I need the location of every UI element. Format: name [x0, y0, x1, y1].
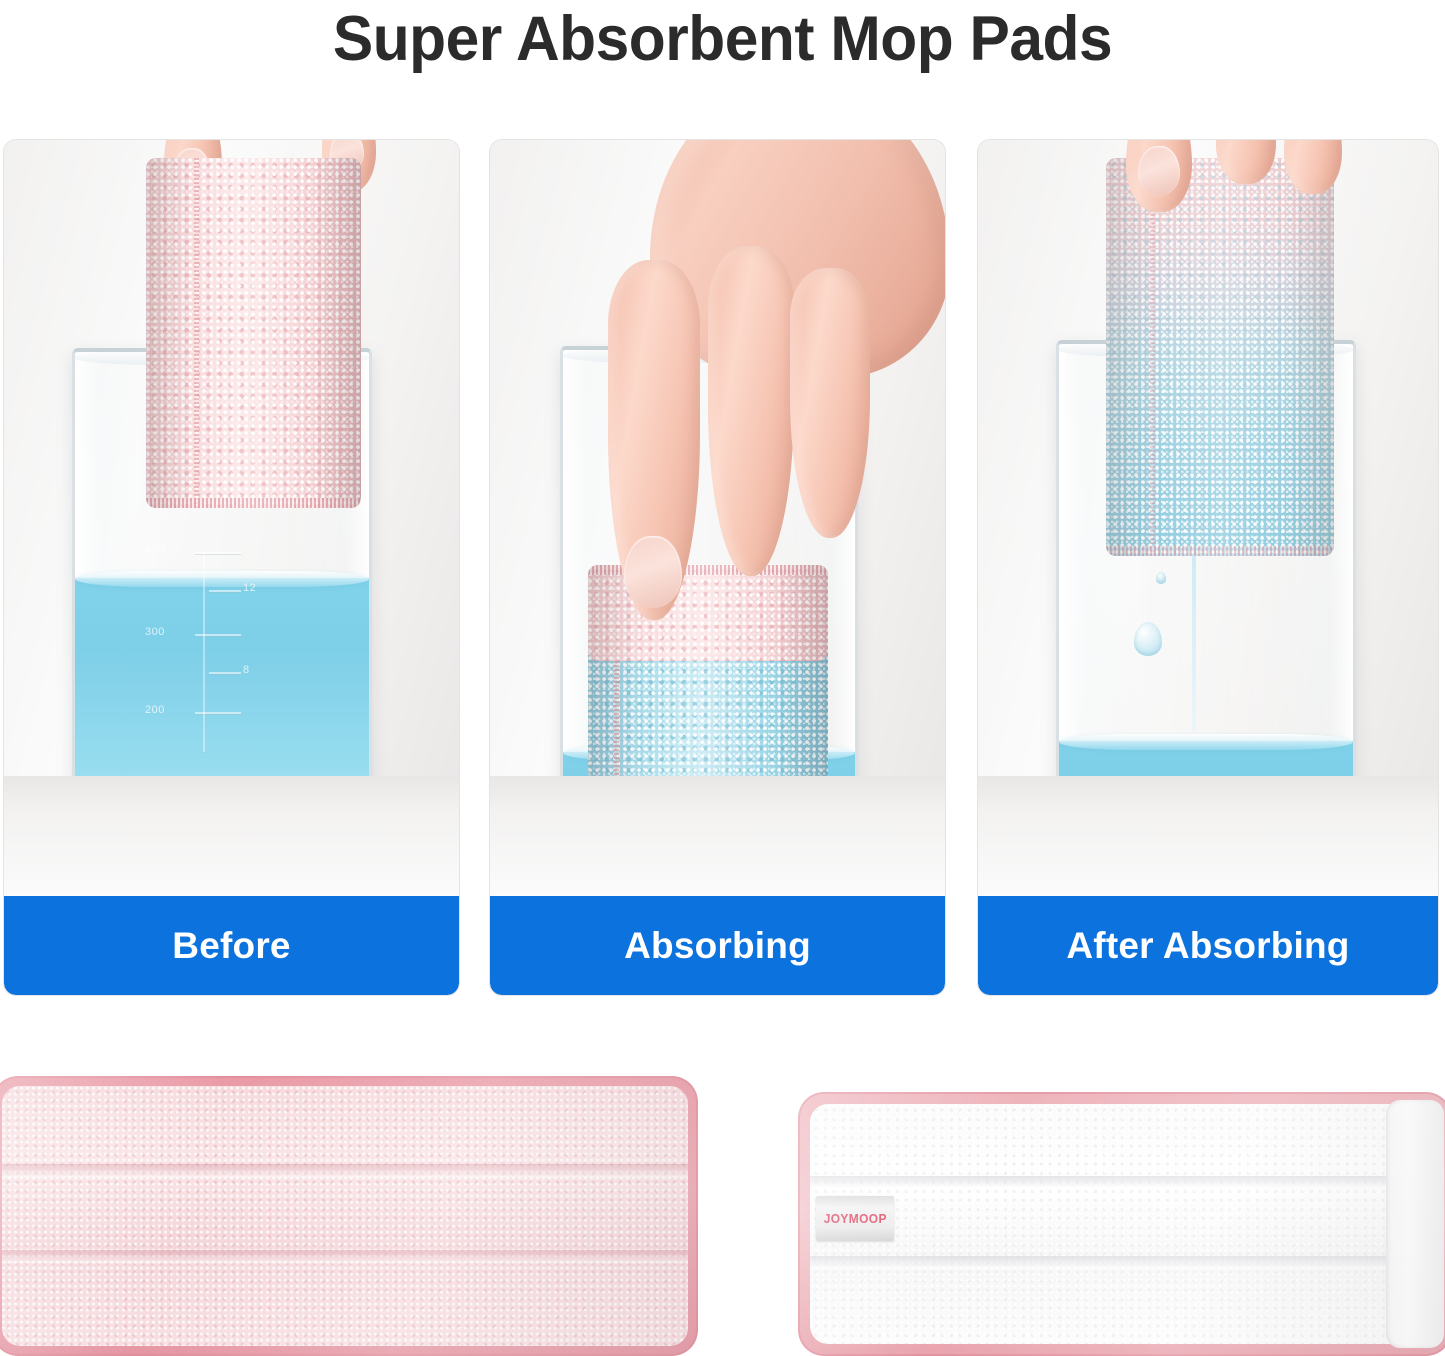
- finger-index: [608, 260, 700, 620]
- finger-middle: [708, 246, 794, 576]
- finger-ring: [790, 268, 870, 538]
- caption-label: After Absorbing: [1066, 924, 1349, 968]
- panel-absorbing: Absorbing: [490, 140, 945, 995]
- pad-hem: [588, 853, 828, 863]
- water-stream: [1192, 550, 1196, 732]
- product-pink-pad: [0, 1076, 698, 1356]
- panel-after-absorbing: 200: [978, 140, 1438, 995]
- caption-label: Before: [172, 924, 290, 968]
- pad-shading: [1106, 158, 1334, 556]
- glass-base: [1060, 837, 1352, 869]
- photo-before: 400 12 300 8 200: [4, 140, 459, 896]
- pad-channel: [2, 1250, 688, 1262]
- glass-base: [564, 838, 854, 870]
- water-surface: [75, 571, 369, 587]
- pad-face: [2, 1086, 688, 1346]
- fingernail: [624, 536, 682, 608]
- brand-name: JOYMOOP: [823, 1211, 886, 1226]
- mop-pad-roll-saturated: [1106, 158, 1334, 556]
- product-infographic: Super Absorbent Mop Pads 400 12: [0, 0, 1445, 1356]
- caption-banner-absorbing: Absorbing: [490, 896, 945, 995]
- water-droplet-small: [1156, 572, 1166, 584]
- water-surface: [1059, 734, 1353, 750]
- fingernail: [1138, 146, 1180, 196]
- pad-channel: [2, 1164, 688, 1176]
- product-pads: JOYMOOP: [0, 1062, 1445, 1356]
- panel-before: 400 12 300 8 200: [4, 140, 459, 995]
- page-title: Super Absorbent Mop Pads: [29, 2, 1416, 76]
- photo-absorbing: [490, 140, 945, 896]
- mop-pad-roll-dry: [146, 158, 361, 508]
- photo-after-absorbing: 200: [978, 140, 1438, 896]
- caption-label: Absorbing: [624, 924, 811, 968]
- pad-channel: [810, 1256, 1440, 1268]
- caption-banner-before: Before: [4, 896, 459, 995]
- pad-face: [810, 1104, 1440, 1344]
- water-body: [1059, 741, 1353, 869]
- water-droplet: [1134, 622, 1162, 656]
- brand-tag: JOYMOOP: [816, 1196, 894, 1241]
- glass-base: [76, 838, 368, 870]
- caption-banner-after-absorbing: After Absorbing: [978, 896, 1438, 995]
- water-body: [75, 578, 369, 870]
- product-white-pad: JOYMOOP: [798, 1092, 1445, 1356]
- pad-channel: [810, 1176, 1440, 1188]
- pad-shading: [146, 158, 361, 508]
- comparison-panels: 400 12 300 8 200: [0, 140, 1445, 995]
- pad-side-flap: [1386, 1100, 1444, 1348]
